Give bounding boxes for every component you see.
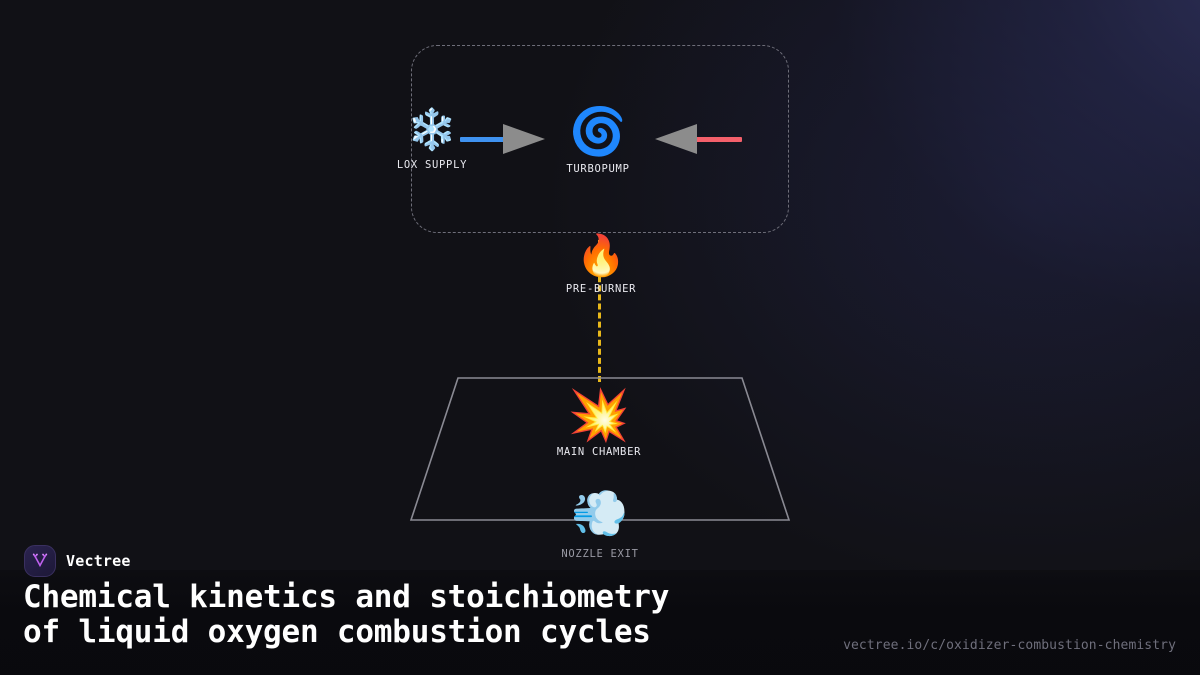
node-main-chamber[interactable]: 💥 MAIN CHAMBER (499, 390, 699, 458)
brand[interactable]: Vectree (24, 545, 131, 577)
brand-name: Vectree (66, 552, 131, 570)
page-title: Chemical kinetics and stoichiometry of l… (23, 580, 823, 649)
cyclone-icon: 🌀 (569, 108, 626, 154)
headline-line-2: of liquid oxygen combustion cycles (23, 615, 823, 650)
node-label: MAIN CHAMBER (557, 446, 641, 458)
node-nozzle-exit[interactable]: 💨 NOZZLE EXIT (500, 490, 700, 560)
site-url: vectree.io/c/oxidizer-combustion-chemist… (843, 638, 1176, 653)
snowflake-icon: ❄️ (407, 110, 457, 150)
vectree-v-tree-icon (24, 545, 56, 577)
node-turbopump[interactable]: 🌀 TURBOPUMP (498, 108, 698, 175)
explosion-icon: 💥 (568, 390, 630, 440)
fire-icon: 🔥 (576, 236, 626, 276)
headline-line-1: Chemical kinetics and stoichiometry (23, 580, 823, 615)
dashing-away-icon: 💨 (571, 490, 628, 536)
node-label: LOX SUPPLY (397, 159, 467, 171)
edge-fuel-to-turbopump (696, 137, 742, 142)
node-pre-burner[interactable]: 🔥 PRE-BURNER (501, 236, 701, 295)
node-label: PRE-BURNER (566, 283, 636, 295)
node-label: TURBOPUMP (566, 163, 629, 175)
node-label: NOZZLE EXIT (561, 548, 638, 560)
